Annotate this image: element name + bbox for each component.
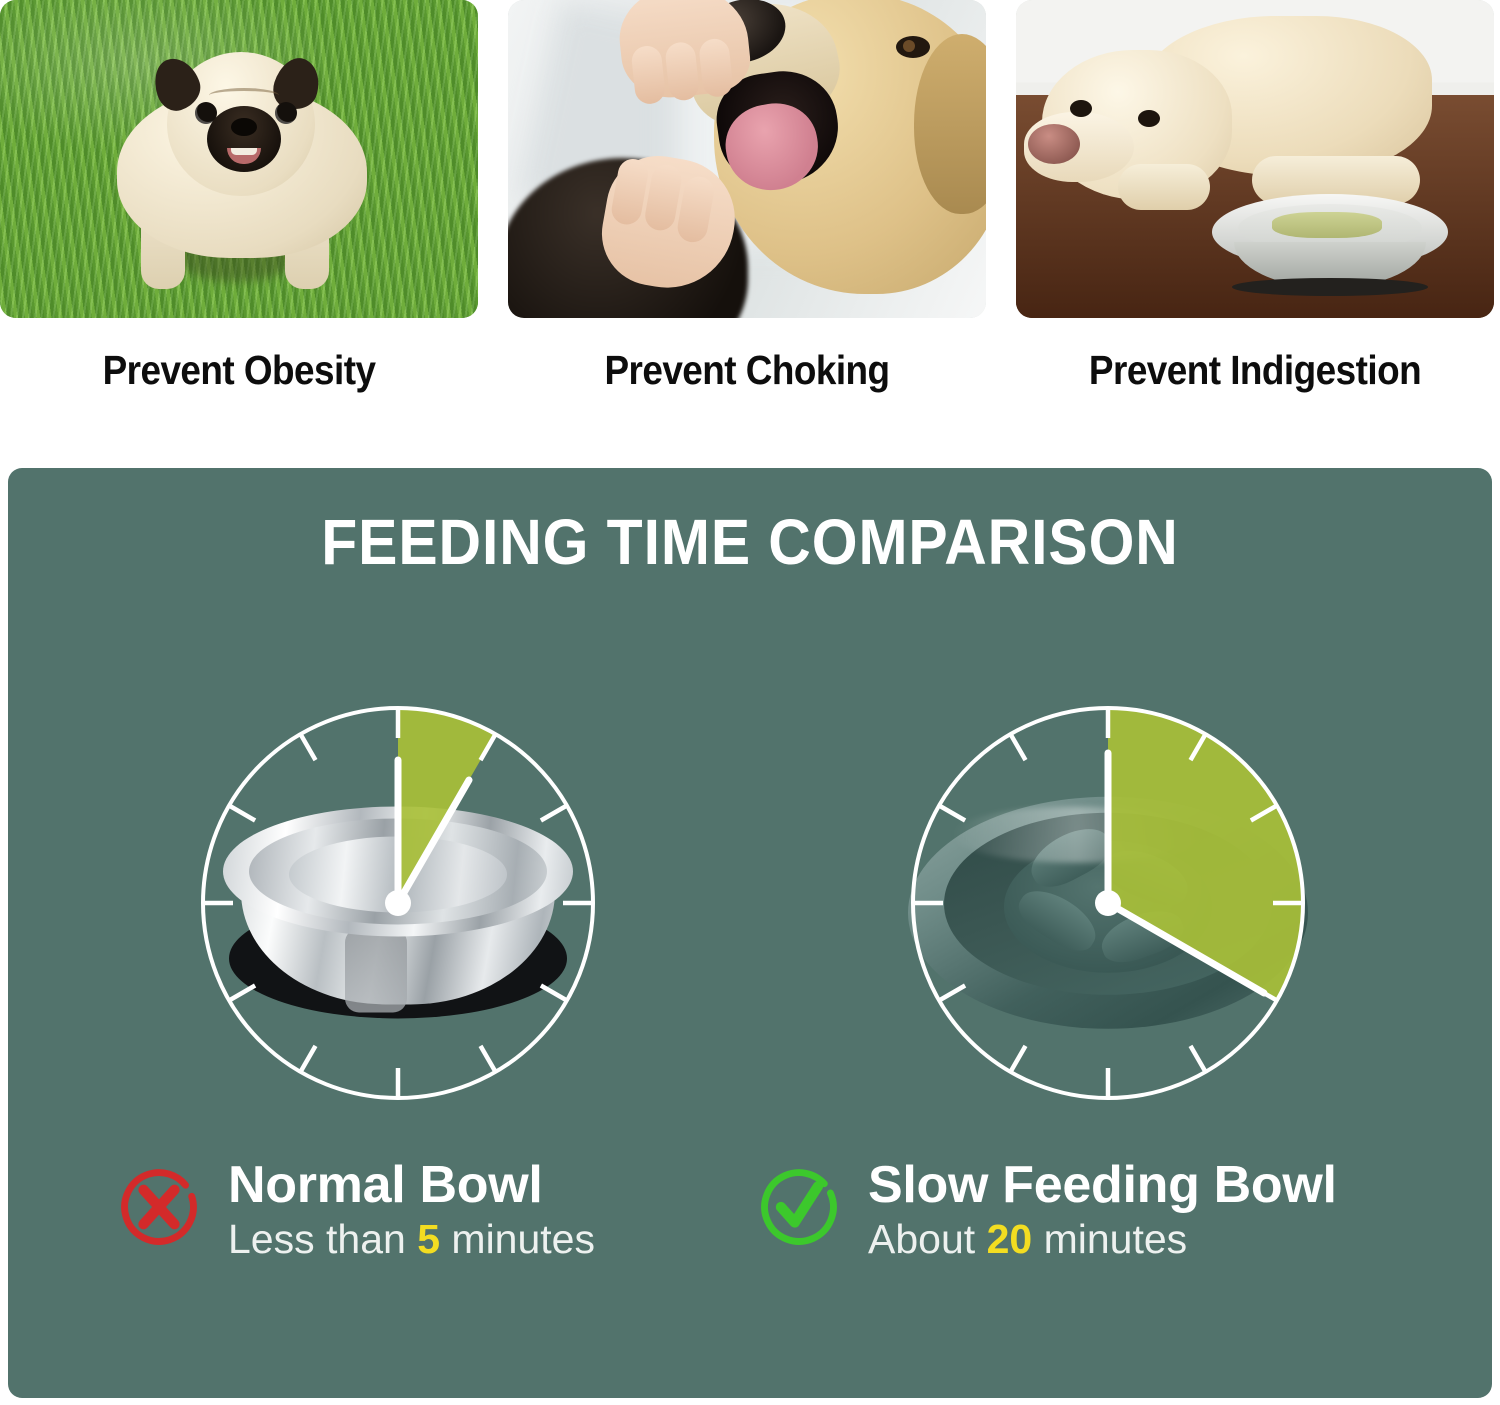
clock-dials: [8, 668, 1492, 1138]
benefit-card-indigestion: Prevent Indigestion: [1016, 0, 1494, 391]
legend-sub-suffix-normal: minutes: [451, 1216, 595, 1262]
clock-center-hub: [1095, 890, 1121, 916]
photo-overweight-pug: [0, 0, 478, 318]
clock-slow-feeding-bowl: [873, 668, 1343, 1138]
benefits-strip: Prevent Obesity Prevent Choking: [0, 0, 1500, 455]
clock-center-hub: [385, 890, 411, 916]
photo-choking-dog: [508, 0, 986, 318]
benefit-card-obesity: Prevent Obesity: [0, 0, 478, 391]
check-circle-icon: [756, 1164, 842, 1250]
legend-subtitle-slow-feeding-bowl: About 20 minutes: [868, 1217, 1337, 1262]
steel-bowl-photo: [1212, 194, 1448, 304]
panel-title: FEEDING TIME COMPARISON: [67, 510, 1432, 574]
legend-minutes-normal: 5: [417, 1216, 440, 1262]
photo-labrador-with-bowl: [1016, 0, 1494, 318]
legend-slow-feeding-bowl: Slow Feeding Bowl About 20 minutes: [756, 1158, 1337, 1262]
legend-title-normal-bowl: Normal Bowl: [228, 1158, 595, 1213]
legend-sub-prefix-normal: Less than: [228, 1216, 406, 1262]
legend-row: Normal Bowl Less than 5 minutes Slow Fee…: [8, 1158, 1492, 1338]
legend-subtitle-normal-bowl: Less than 5 minutes: [228, 1217, 595, 1262]
legend-sub-prefix-slow: About: [868, 1216, 975, 1262]
clock-normal-bowl: [163, 668, 633, 1138]
benefit-card-choking: Prevent Choking: [508, 0, 986, 391]
legend-sub-suffix-slow: minutes: [1044, 1216, 1188, 1262]
benefit-caption-choking: Prevent Choking: [532, 350, 962, 391]
hand-upper: [615, 0, 754, 102]
cross-circle-icon: [116, 1164, 202, 1250]
legend-normal-bowl: Normal Bowl Less than 5 minutes: [116, 1158, 595, 1262]
benefit-caption-indigestion: Prevent Indigestion: [1040, 350, 1470, 391]
benefit-caption-obesity: Prevent Obesity: [24, 350, 454, 391]
clock-dial-5-min: [163, 668, 633, 1138]
comparison-panel: FEEDING TIME COMPARISON: [8, 468, 1492, 1398]
legend-title-slow-feeding-bowl: Slow Feeding Bowl: [868, 1158, 1337, 1213]
clock-dial-20-min: [873, 668, 1343, 1138]
pug-illustration: [89, 44, 389, 294]
legend-minutes-slow: 20: [987, 1216, 1033, 1262]
